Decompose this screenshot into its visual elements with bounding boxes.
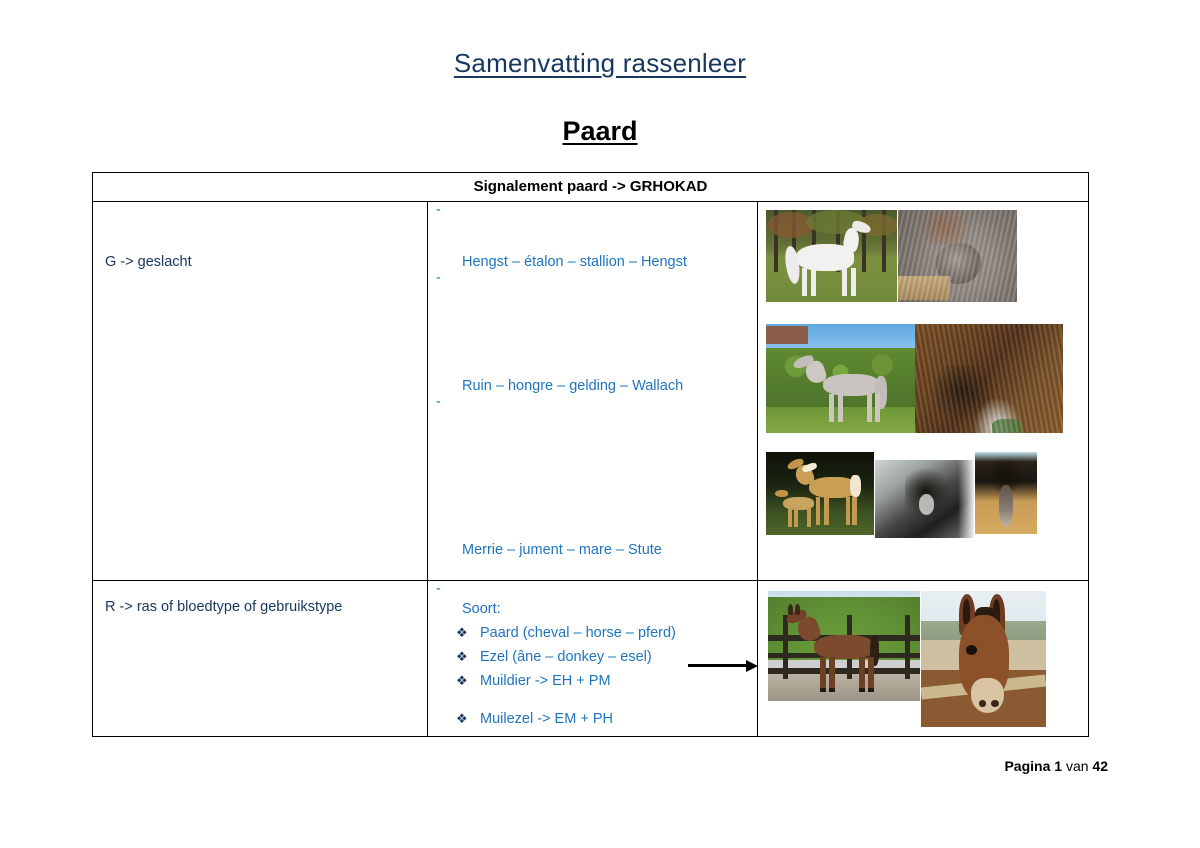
- row-images-cell-geslacht: [758, 202, 1089, 581]
- gelding-anatomy-closeup-photo: [915, 324, 1063, 433]
- arrow-pointing-right-icon: [688, 660, 760, 672]
- list-item: Merrie – jument – mare – Stute: [428, 394, 757, 558]
- row-label-geslacht: G -> geslacht: [93, 202, 427, 270]
- bullet-label: Muilezel -> EM + PH: [480, 711, 613, 727]
- soort-bullet-list: ❖ Paard (cheval – horse – pferd) ❖ Ezel …: [428, 621, 757, 731]
- document-page: Samenvatting rassenleer Paard Signalemen…: [0, 0, 1200, 848]
- mule-standing-by-fence-photo: [768, 591, 920, 701]
- footer-page-number: 1: [1054, 758, 1062, 774]
- list-item: Ruin – hongre – gelding – Wallach: [428, 270, 757, 394]
- row-label-cell-ras: R -> ras of bloedtype of gebruikstype: [93, 581, 428, 737]
- bullet-item: ❖ Muilezel -> EM + PH: [480, 707, 757, 731]
- mare-udder-closeup-photo: [975, 452, 1037, 534]
- table-header-cell: Signalement paard -> GRHOKAD: [93, 173, 1089, 202]
- dapple-grey-gelding-photo: [766, 324, 915, 433]
- bullet-spacer: [480, 693, 757, 707]
- bullet-item: ❖ Paard (cheval – horse – pferd): [480, 621, 757, 645]
- palomino-mare-with-foal-photo: [766, 452, 874, 535]
- table-header-row: Signalement paard -> GRHOKAD: [93, 173, 1089, 202]
- footer-total-pages: 42: [1092, 758, 1108, 774]
- table-row: G -> geslacht Hengst – étalon – stallion…: [93, 202, 1089, 581]
- white-stallion-photo: [766, 210, 897, 302]
- document-title: Samenvatting rassenleer: [0, 48, 1200, 79]
- bullet-label: Ezel (âne – donkey – esel): [480, 649, 652, 665]
- list-item-soort: Soort:: [428, 581, 757, 617]
- row-images-cell-ras: [758, 581, 1089, 737]
- diamond-bullet-icon: ❖: [456, 707, 468, 731]
- document-subtitle: Paard: [0, 116, 1200, 147]
- bullet-item: ❖ Muildier -> EH + PM: [480, 669, 757, 693]
- row-label-cell-geslacht: G -> geslacht: [93, 202, 428, 581]
- page-footer: Pagina 1 van 42: [1004, 758, 1108, 774]
- diamond-bullet-icon: ❖: [456, 645, 468, 669]
- footer-prefix: Pagina: [1004, 758, 1050, 774]
- diamond-bullet-icon: ❖: [456, 669, 468, 693]
- bullet-label: Paard (cheval – horse – pferd): [480, 625, 676, 641]
- row-label-ras: R -> ras of bloedtype of gebruikstype: [93, 581, 427, 615]
- row-items-cell-ras: Soort: ❖ Paard (cheval – horse – pferd) …: [428, 581, 758, 737]
- bullet-label: Muildier -> EH + PM: [480, 673, 611, 689]
- mare-anatomy-closeup-photo: [875, 460, 974, 538]
- row-items-cell-geslacht: Hengst – étalon – stallion – Hengst Ruin…: [428, 202, 758, 581]
- diamond-bullet-icon: ❖: [456, 621, 468, 645]
- signalement-table: Signalement paard -> GRHOKAD G -> geslac…: [92, 172, 1089, 737]
- stallion-anatomy-closeup-photo: [898, 210, 1017, 302]
- footer-middle: van: [1066, 758, 1089, 774]
- mule-head-closeup-photo: [921, 591, 1046, 727]
- table-row: R -> ras of bloedtype of gebruikstype So…: [93, 581, 1089, 737]
- list-item: Hengst – étalon – stallion – Hengst: [428, 202, 757, 270]
